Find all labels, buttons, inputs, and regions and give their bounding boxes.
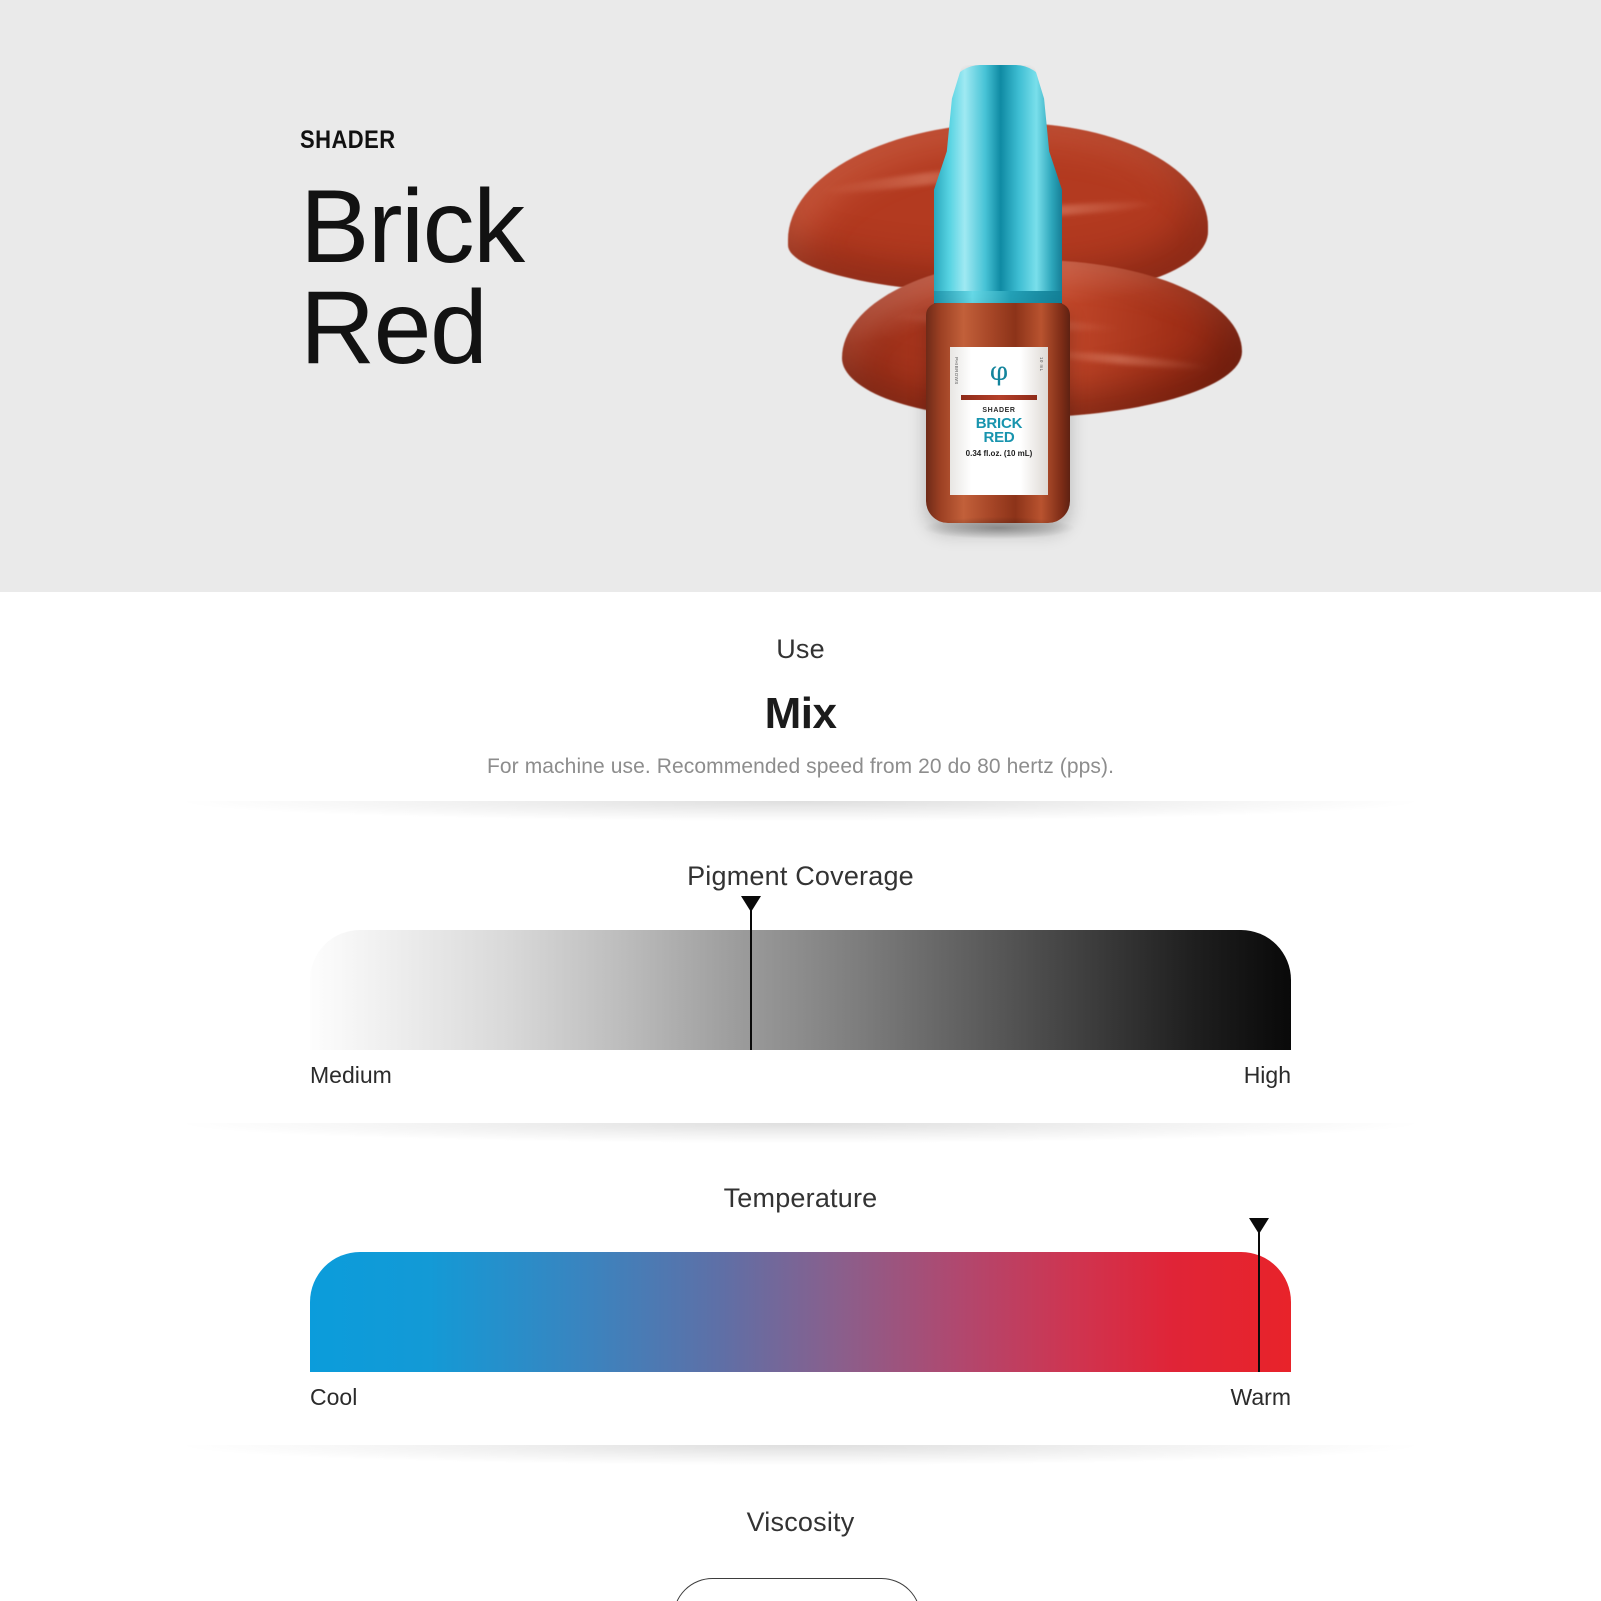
pigment-coverage-label: Pigment Coverage — [0, 861, 1601, 892]
temperature-label: Temperature — [0, 1183, 1601, 1214]
page-title-line-1: Brick — [300, 177, 524, 278]
viscosity-section: Viscosity Low Medium High — [0, 1471, 1601, 1601]
spec-sections: Use Mix For machine use. Recommended spe… — [0, 592, 1601, 1601]
bottle-shadow — [924, 517, 1074, 539]
bottle-label-side-left: PHIBROWS — [954, 357, 959, 385]
temperature-right-label: Warm — [1231, 1384, 1291, 1411]
use-note: For machine use. Recommended speed from … — [0, 755, 1601, 779]
section-divider — [0, 801, 1601, 827]
temperature-scale[interactable] — [310, 1252, 1291, 1372]
pigment-coverage-right-label: High — [1244, 1062, 1291, 1089]
use-value: Mix — [0, 689, 1601, 739]
pigment-coverage-section: Pigment Coverage Medium High — [0, 827, 1601, 1089]
bottle-cap — [934, 65, 1062, 305]
hero-section: SHADER Brick Red PHIBROWS 10 mL φ — [0, 0, 1601, 592]
use-section: Use Mix For machine use. Recommended spe… — [0, 612, 1601, 779]
label-category: SHADER — [982, 407, 1015, 414]
temperature-marker — [1258, 1218, 1260, 1372]
page-title: Brick Red — [300, 177, 524, 379]
viscosity-label: Viscosity — [0, 1507, 1601, 1538]
pigment-coverage-marker — [750, 896, 752, 1050]
temperature-left-label: Cool — [310, 1384, 357, 1411]
section-divider — [0, 1445, 1601, 1471]
product-image: PHIBROWS 10 mL φ SHADER BRICK RED 0.34 f… — [780, 55, 1300, 555]
viscosity-option-medium[interactable]: Medium — [673, 1578, 921, 1601]
hero-text-block: SHADER Brick Red — [300, 128, 524, 379]
pigment-coverage-left-label: Medium — [310, 1062, 392, 1089]
bottle-label: PHIBROWS 10 mL φ SHADER BRICK RED 0.34 f… — [950, 347, 1048, 495]
product-category-label: SHADER — [300, 128, 497, 153]
temperature-section: Temperature Cool Warm — [0, 1149, 1601, 1411]
temperature-gradient — [310, 1252, 1291, 1372]
bottle-label-side-right: 10 mL — [1039, 357, 1044, 372]
pigment-coverage-scale[interactable] — [310, 930, 1291, 1050]
pigment-bottle: PHIBROWS 10 mL φ SHADER BRICK RED 0.34 f… — [910, 65, 1090, 545]
viscosity-options: Low Medium High — [0, 1578, 1601, 1601]
label-product-name-line-2: RED — [976, 431, 1023, 445]
pigment-coverage-endpoints: Medium High — [310, 1062, 1291, 1089]
phi-logo-icon: φ — [990, 359, 1008, 385]
pigment-coverage-gradient — [310, 930, 1291, 1050]
label-volume: 0.34 fl.oz. (10 mL) — [966, 449, 1033, 458]
label-product-name: BRICK RED — [976, 417, 1023, 445]
temperature-endpoints: Cool Warm — [310, 1384, 1291, 1411]
page-title-line-2: Red — [300, 278, 524, 379]
product-spec-page: SHADER Brick Red PHIBROWS 10 mL φ — [0, 0, 1601, 1601]
use-label: Use — [0, 634, 1601, 665]
section-divider — [0, 1123, 1601, 1149]
label-color-bar — [961, 395, 1037, 400]
